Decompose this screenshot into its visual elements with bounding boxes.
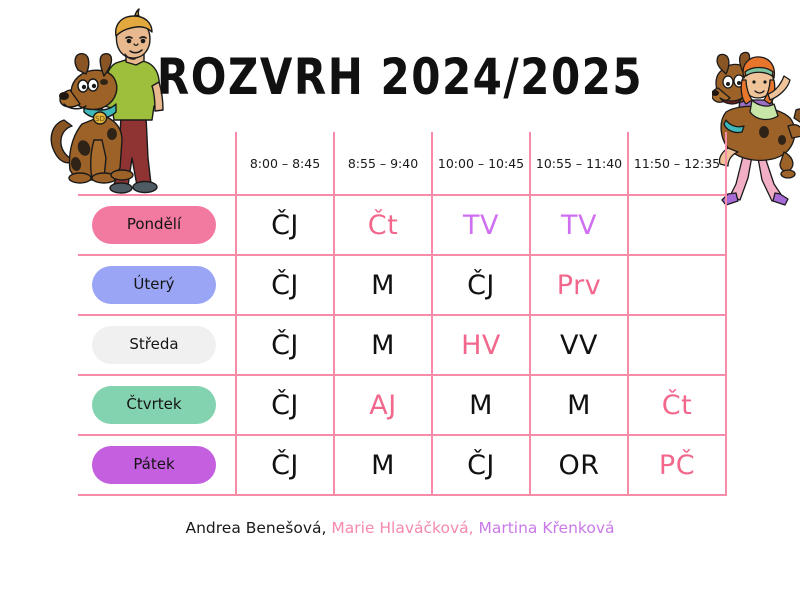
subject-label: ČJ <box>467 270 495 301</box>
page-title: ROZVRH 2024/2025 <box>0 48 800 106</box>
lesson-cell-tuesday-1: ČJ <box>236 255 334 315</box>
subject-label: M <box>371 450 395 481</box>
day-pill-wednesday: Středa <box>92 326 216 364</box>
lesson-cell-wednesday-4: VV <box>530 315 628 375</box>
lesson-cell-thursday-3: M <box>432 375 530 435</box>
subject-label: Čt <box>662 390 692 421</box>
lesson-cell-thursday-4: M <box>530 375 628 435</box>
lesson-cell-wednesday-2: M <box>334 315 432 375</box>
lesson-cell-friday-3: ČJ <box>432 435 530 495</box>
day-pill-friday: Pátek <box>92 446 216 484</box>
time-slot-header-3: 10:00 – 10:45 <box>432 132 530 195</box>
lesson-cell-monday-3: TV <box>432 195 530 255</box>
time-slot-header-2: 8:55 – 9:40 <box>334 132 432 195</box>
day-pill-monday: Pondělí <box>92 206 216 244</box>
subject-label: TV <box>463 210 499 241</box>
day-label-cell-wednesday: Středa <box>78 315 236 375</box>
time-slot-header-4: 10:55 – 11:40 <box>530 132 628 195</box>
subject-label: Prv <box>557 270 601 301</box>
svg-text:SD: SD <box>95 115 105 123</box>
subject-label: M <box>567 390 591 421</box>
day-label-cell-monday: Pondělí <box>78 195 236 255</box>
day-pill-tuesday: Úterý <box>92 266 216 304</box>
lesson-cell-friday-1: ČJ <box>236 435 334 495</box>
timetable-grid: 8:00 – 8:45 8:55 – 9:40 10:00 – 10:45 10… <box>78 132 727 496</box>
day-label-cell-friday: Pátek <box>78 435 236 495</box>
lesson-cell-monday-4: TV <box>530 195 628 255</box>
time-header-row: 8:00 – 8:45 8:55 – 9:40 10:00 – 10:45 10… <box>78 132 726 195</box>
timetable-page: SD <box>0 0 800 600</box>
table-row: Pátek ČJ M ČJ OR PČ <box>78 435 726 495</box>
day-label-cell-tuesday: Úterý <box>78 255 236 315</box>
lesson-cell-thursday-2: AJ <box>334 375 432 435</box>
table-row: Úterý ČJ M ČJ Prv <box>78 255 726 315</box>
corner-cell <box>78 132 236 195</box>
lesson-cell-tuesday-5 <box>628 255 726 315</box>
subject-label: M <box>371 330 395 361</box>
subject-label: M <box>371 270 395 301</box>
subject-label: TV <box>561 210 597 241</box>
subject-label: OR <box>558 450 599 481</box>
subject-label: Čt <box>368 210 398 241</box>
subject-label: M <box>469 390 493 421</box>
subject-label: ČJ <box>271 450 299 481</box>
lesson-cell-wednesday-1: ČJ <box>236 315 334 375</box>
time-slot-header-5: 11:50 – 12:35 <box>628 132 726 195</box>
teacher-name-3: Martina Křenková <box>478 519 614 537</box>
table-row: Středa ČJ M HV VV <box>78 315 726 375</box>
teacher-name-2: Marie Hlaváčková, <box>331 519 473 537</box>
table-row: Pondělí ČJ Čt TV TV <box>78 195 726 255</box>
day-label-cell-thursday: Čtvrtek <box>78 375 236 435</box>
timetable-body: Pondělí ČJ Čt TV TV Úterý ČJ M ČJ Prv <box>78 195 726 495</box>
lesson-cell-thursday-5: Čt <box>628 375 726 435</box>
lesson-cell-thursday-1: ČJ <box>236 375 334 435</box>
teacher-name-1: Andrea Benešová, <box>185 519 326 537</box>
subject-label: ČJ <box>271 270 299 301</box>
subject-label: HV <box>461 330 501 361</box>
lesson-cell-tuesday-3: ČJ <box>432 255 530 315</box>
subject-label: ČJ <box>271 390 299 421</box>
lesson-cell-wednesday-5 <box>628 315 726 375</box>
lesson-cell-tuesday-2: M <box>334 255 432 315</box>
day-pill-thursday: Čtvrtek <box>92 386 216 424</box>
lesson-cell-friday-4: OR <box>530 435 628 495</box>
subject-label: PČ <box>659 450 695 481</box>
lesson-cell-friday-2: M <box>334 435 432 495</box>
time-slot-header-1: 8:00 – 8:45 <box>236 132 334 195</box>
lesson-cell-monday-1: ČJ <box>236 195 334 255</box>
subject-label: ČJ <box>271 330 299 361</box>
lesson-cell-monday-5 <box>628 195 726 255</box>
subject-label: ČJ <box>271 210 299 241</box>
table-row: Čtvrtek ČJ AJ M M Čt <box>78 375 726 435</box>
lesson-cell-wednesday-3: HV <box>432 315 530 375</box>
subject-label: ČJ <box>467 450 495 481</box>
subject-label: VV <box>560 330 598 361</box>
lesson-cell-friday-5: PČ <box>628 435 726 495</box>
lesson-cell-tuesday-4: Prv <box>530 255 628 315</box>
subject-label: AJ <box>369 390 396 421</box>
lesson-cell-monday-2: Čt <box>334 195 432 255</box>
timetable: 8:00 – 8:45 8:55 – 9:40 10:00 – 10:45 10… <box>78 132 726 496</box>
teacher-names: Andrea Benešová, Marie Hlaváčková, Marti… <box>0 519 800 537</box>
